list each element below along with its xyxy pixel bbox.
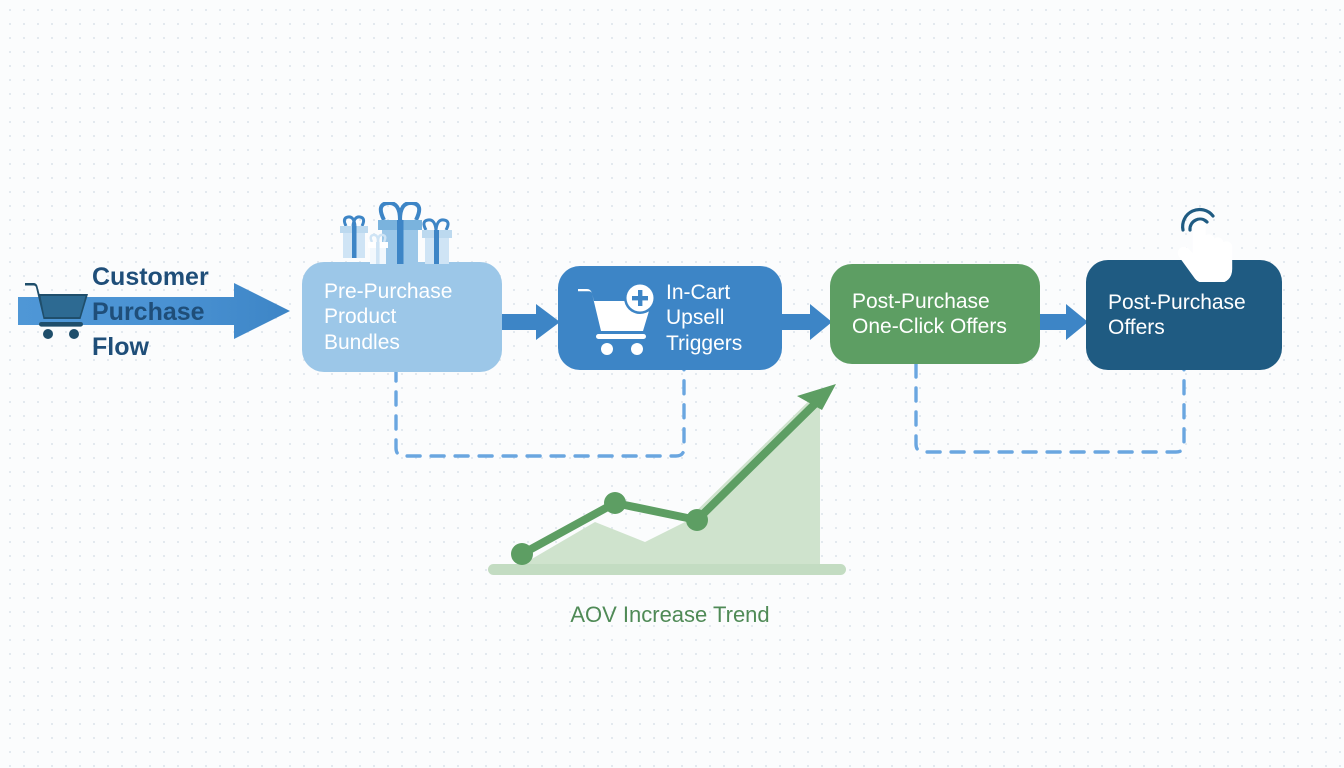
flow-title-label: Customer Purchase Flow bbox=[92, 260, 292, 365]
flow-arrow-2 bbox=[782, 302, 832, 342]
flow-arrow-3 bbox=[1038, 302, 1088, 342]
aov-increase-trend-chart bbox=[470, 372, 870, 587]
stage-card-post-purchase-one-click-offers[interactable]: Post-Purchase One-Click Offers bbox=[830, 264, 1040, 364]
dashed-connector-right bbox=[900, 364, 1200, 460]
cart-plus-icon bbox=[576, 282, 668, 358]
stage-card-label: Post-Purchase Offers bbox=[1108, 290, 1246, 341]
tap-hand-icon bbox=[1170, 200, 1244, 282]
stage-card-label: Pre-Purchase Product Bundles bbox=[324, 279, 452, 356]
chart-baseline bbox=[488, 564, 846, 575]
chart-marker bbox=[511, 543, 533, 565]
stage-card-label: In-Cart Upsell Triggers bbox=[666, 280, 742, 357]
stage-card-label: Post-Purchase One-Click Offers bbox=[852, 289, 1007, 340]
diagram-canvas: Customer Purchase Flow bbox=[0, 0, 1344, 768]
chart-caption: AOV Increase Trend bbox=[470, 602, 870, 628]
chart-marker bbox=[604, 492, 626, 514]
chart-arrow-head bbox=[797, 384, 836, 410]
chart-marker bbox=[686, 509, 708, 531]
flow-arrow-1 bbox=[502, 302, 560, 342]
shopping-cart-icon bbox=[22, 278, 94, 342]
stage-card-pre-purchase-product-bundles[interactable]: Pre-Purchase Product Bundles bbox=[302, 262, 502, 372]
gift-boxes-icon bbox=[328, 202, 468, 274]
